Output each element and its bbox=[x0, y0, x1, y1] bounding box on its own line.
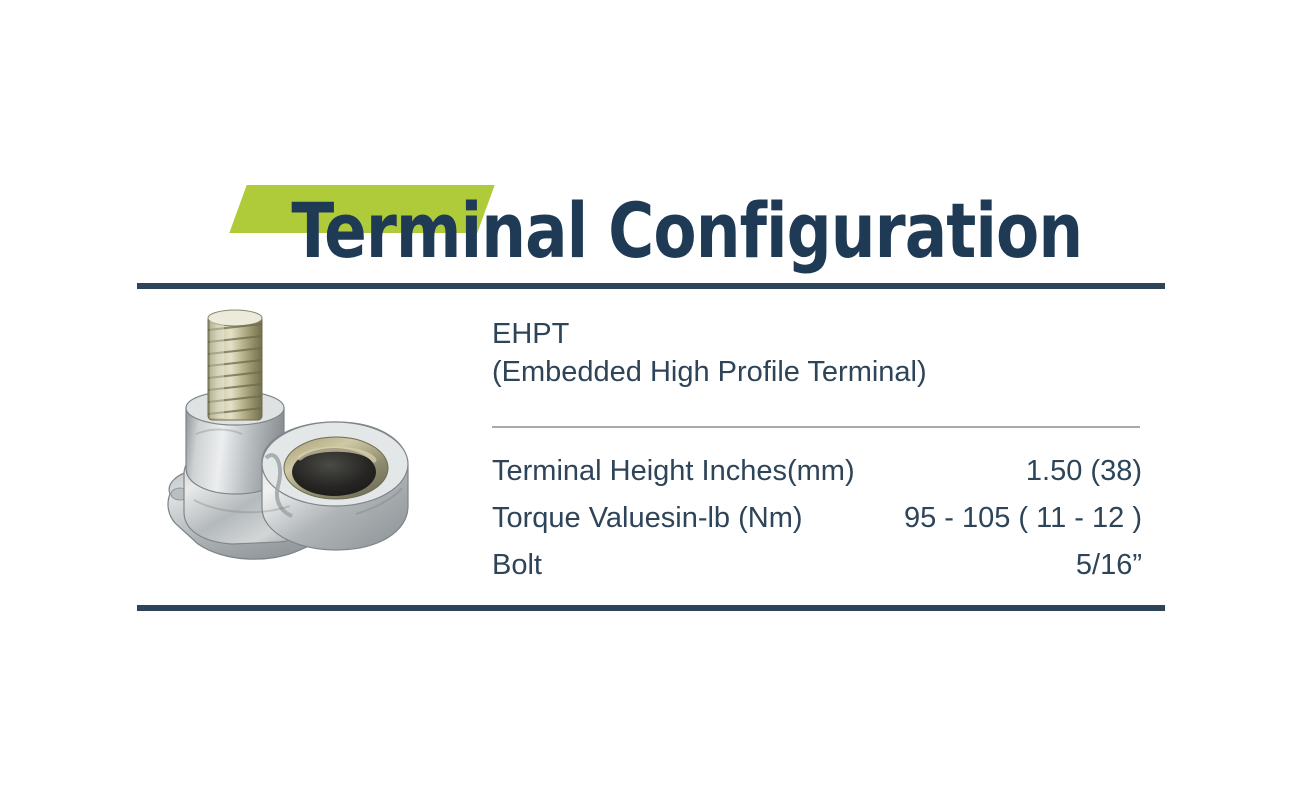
page-title-block: Terminal Configuration bbox=[135, 180, 1165, 280]
divider-top bbox=[137, 283, 1165, 289]
spec-table: Terminal Height Inches(mm) 1.50 (38) Tor… bbox=[492, 448, 1142, 589]
spec-label: Bolt bbox=[492, 542, 542, 589]
table-row: Bolt 5/16” bbox=[492, 542, 1142, 589]
divider-thin bbox=[492, 426, 1140, 428]
spec-label: Terminal Height Inches(mm) bbox=[492, 448, 855, 495]
spec-label: Torque Valuesin-lb (Nm) bbox=[492, 495, 803, 542]
product-name: EHPT (Embedded High Profile Terminal) bbox=[492, 315, 1142, 391]
page-title: Terminal Configuration bbox=[217, 180, 1165, 280]
product-image bbox=[150, 298, 450, 598]
slide-canvas: Terminal Configuration bbox=[0, 0, 1300, 800]
table-row: Terminal Height Inches(mm) 1.50 (38) bbox=[492, 448, 1142, 495]
table-row: Torque Valuesin-lb (Nm) 95 - 105 ( 11 - … bbox=[492, 495, 1142, 542]
spec-value: 5/16” bbox=[1076, 542, 1142, 589]
product-code: EHPT bbox=[492, 318, 569, 350]
spec-value: 95 - 105 ( 11 - 12 ) bbox=[904, 495, 1142, 542]
stud-highlight bbox=[210, 318, 224, 418]
divider-bottom bbox=[137, 605, 1165, 611]
spec-heading-block: EHPT (Embedded High Profile Terminal) bbox=[492, 315, 1142, 391]
terminal-illustration bbox=[150, 298, 450, 598]
product-full-name: (Embedded High Profile Terminal) bbox=[492, 353, 1142, 391]
spec-value: 1.50 (38) bbox=[1026, 448, 1142, 495]
